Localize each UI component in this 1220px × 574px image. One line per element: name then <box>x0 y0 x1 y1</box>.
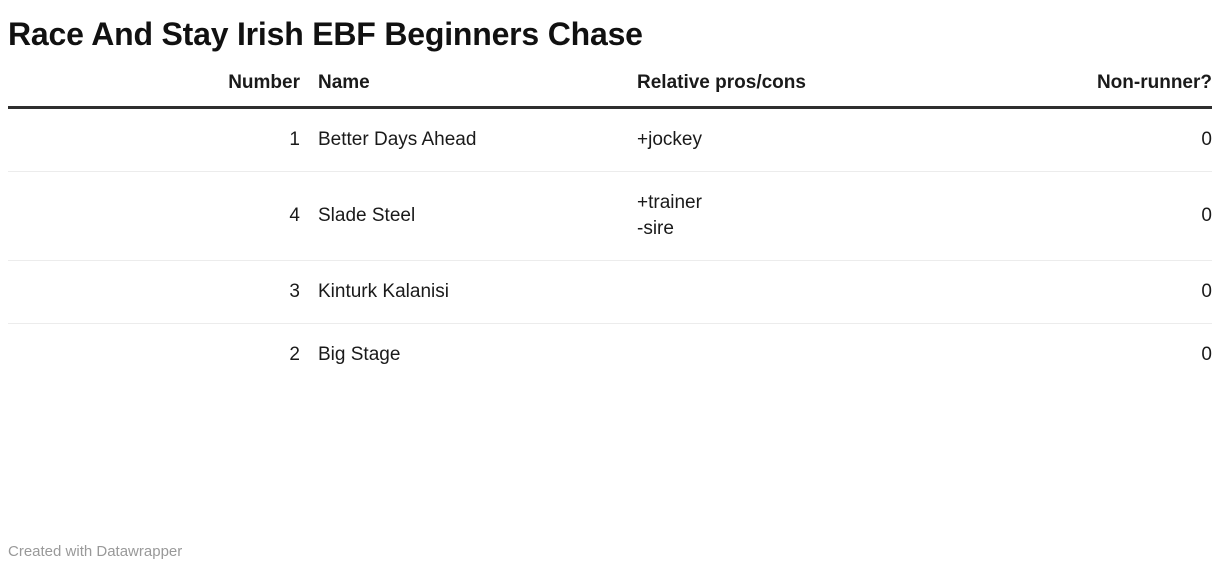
column-header-number[interactable]: Number <box>8 72 300 108</box>
cell-number: 2 <box>8 324 300 387</box>
column-header-non-runner[interactable]: Non-runner? <box>1007 72 1212 108</box>
table-header: Number Name Relative pros/cons Non-runne… <box>8 72 1212 108</box>
table-container: Number Name Relative pros/cons Non-runne… <box>8 72 1212 386</box>
cell-number: 1 <box>8 108 300 172</box>
table-body: 1 Better Days Ahead +jockey 0 4 Slade St… <box>8 108 1212 387</box>
cell-number: 4 <box>8 172 300 261</box>
cell-name: Slade Steel <box>300 172 617 261</box>
cell-name: Better Days Ahead <box>300 108 617 172</box>
cell-non-runner: 0 <box>1007 324 1212 387</box>
column-header-name[interactable]: Name <box>300 72 617 108</box>
cell-non-runner: 0 <box>1007 108 1212 172</box>
page-title: Race And Stay Irish EBF Beginners Chase <box>8 0 1212 54</box>
race-runners-table: Number Name Relative pros/cons Non-runne… <box>8 72 1212 386</box>
datawrapper-table-chart: Race And Stay Irish EBF Beginners Chase … <box>0 0 1220 574</box>
cell-non-runner: 0 <box>1007 172 1212 261</box>
cell-number: 3 <box>8 261 300 324</box>
cell-relative-pros-cons <box>617 324 1007 387</box>
column-header-relative-pros-cons[interactable]: Relative pros/cons <box>617 72 1007 108</box>
table-row: 1 Better Days Ahead +jockey 0 <box>8 108 1212 172</box>
cell-relative-pros-cons: +trainer -sire <box>617 172 1007 261</box>
cell-name: Kinturk Kalanisi <box>300 261 617 324</box>
cell-relative-pros-cons: +jockey <box>617 108 1007 172</box>
pros-cons-line: +jockey <box>637 127 1007 153</box>
table-row: 3 Kinturk Kalanisi 0 <box>8 261 1212 324</box>
cell-non-runner: 0 <box>1007 261 1212 324</box>
table-header-row: Number Name Relative pros/cons Non-runne… <box>8 72 1212 108</box>
table-row: 4 Slade Steel +trainer -sire 0 <box>8 172 1212 261</box>
pros-cons-line: +trainer <box>637 190 1007 216</box>
table-row: 2 Big Stage 0 <box>8 324 1212 387</box>
datawrapper-credit[interactable]: Created with Datawrapper <box>8 542 182 562</box>
cell-relative-pros-cons <box>617 261 1007 324</box>
cell-name: Big Stage <box>300 324 617 387</box>
pros-cons-line: -sire <box>637 216 1007 242</box>
